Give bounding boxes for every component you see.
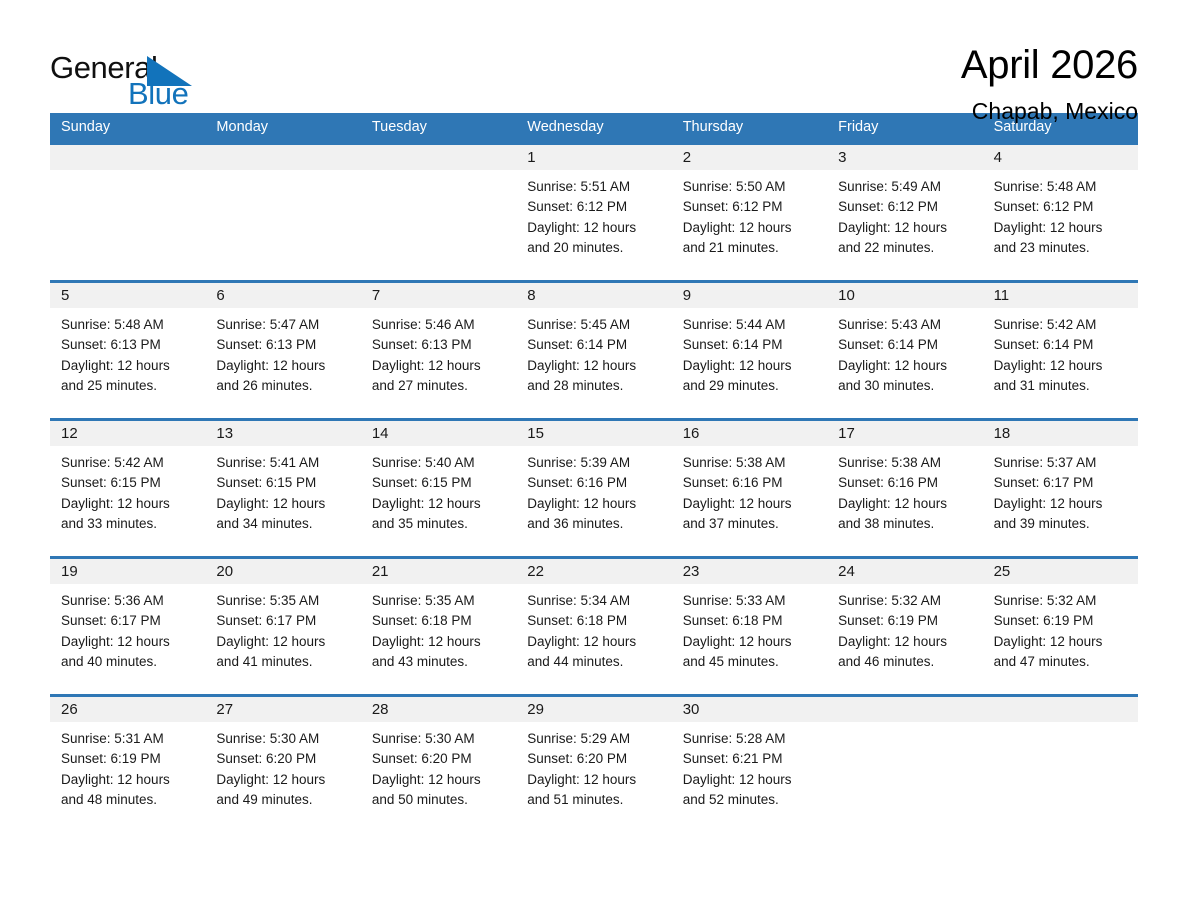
day-detail-line: Sunset: 6:17 PM (216, 611, 349, 631)
day-detail-line: Daylight: 12 hours (216, 632, 349, 652)
day-number[interactable]: 15 (516, 421, 671, 446)
day-detail-line: Daylight: 12 hours (838, 218, 971, 238)
day-number[interactable]: 8 (516, 283, 671, 308)
day-detail-line: and 41 minutes. (216, 652, 349, 672)
day-detail-line: and 22 minutes. (838, 238, 971, 258)
day-detail-line: Sunset: 6:13 PM (61, 335, 194, 355)
day-detail-line: Sunset: 6:21 PM (683, 749, 816, 769)
day-detail-line: Daylight: 12 hours (527, 218, 660, 238)
day-detail-line: Sunrise: 5:33 AM (683, 591, 816, 611)
day-detail-line: Daylight: 12 hours (683, 770, 816, 790)
day-detail-line: and 50 minutes. (372, 790, 505, 810)
day-detail-line: Daylight: 12 hours (994, 218, 1127, 238)
day-number-empty (361, 145, 516, 170)
day-detail-line: Sunset: 6:15 PM (61, 473, 194, 493)
day-cell[interactable]: Sunrise: 5:31 AMSunset: 6:19 PMDaylight:… (50, 722, 205, 830)
day-detail-line: Sunset: 6:18 PM (372, 611, 505, 631)
day-detail-line: Sunrise: 5:32 AM (838, 591, 971, 611)
day-cell[interactable]: Sunrise: 5:45 AMSunset: 6:14 PMDaylight:… (516, 308, 671, 418)
day-detail-line: and 43 minutes. (372, 652, 505, 672)
day-detail-line: Sunset: 6:14 PM (994, 335, 1127, 355)
day-number[interactable]: 25 (983, 559, 1138, 584)
day-detail-line: Sunrise: 5:49 AM (838, 177, 971, 197)
day-detail-line: Daylight: 12 hours (527, 770, 660, 790)
day-detail-line: and 40 minutes. (61, 652, 194, 672)
day-detail-line: Sunset: 6:12 PM (683, 197, 816, 217)
general-blue-logo[interactable]: General Blue (50, 42, 200, 108)
day-number[interactable]: 12 (50, 421, 205, 446)
day-detail-line: Sunset: 6:20 PM (372, 749, 505, 769)
weekday-header-tuesday: Tuesday (361, 113, 516, 142)
day-number-empty (50, 145, 205, 170)
page-header: General Blue April 2026 Chapab, Mexico (50, 0, 1138, 108)
day-detail-line: Daylight: 12 hours (994, 632, 1127, 652)
day-detail-line: Sunrise: 5:38 AM (838, 453, 971, 473)
calendar-page: General Blue April 2026 Chapab, Mexico S… (0, 0, 1188, 918)
day-detail-line: and 29 minutes. (683, 376, 816, 396)
day-number[interactable]: 3 (827, 145, 982, 170)
day-detail-line: Sunset: 6:18 PM (527, 611, 660, 631)
day-cell[interactable]: Sunrise: 5:29 AMSunset: 6:20 PMDaylight:… (516, 722, 671, 830)
day-detail-line: Daylight: 12 hours (527, 356, 660, 376)
day-detail-line: Sunrise: 5:43 AM (838, 315, 971, 335)
day-number[interactable]: 14 (361, 421, 516, 446)
day-detail-line: Sunrise: 5:48 AM (61, 315, 194, 335)
calendar-week-row: 12131415161718Sunrise: 5:42 AMSunset: 6:… (50, 418, 1138, 556)
day-detail-line: and 25 minutes. (61, 376, 194, 396)
day-detail-line: Sunrise: 5:31 AM (61, 729, 194, 749)
day-detail-line: and 26 minutes. (216, 376, 349, 396)
day-detail-line: Sunset: 6:13 PM (372, 335, 505, 355)
day-detail-line: Sunrise: 5:42 AM (61, 453, 194, 473)
day-cell[interactable]: Sunrise: 5:39 AMSunset: 6:16 PMDaylight:… (516, 446, 671, 556)
day-detail-line: Sunset: 6:13 PM (216, 335, 349, 355)
day-detail-line: Daylight: 12 hours (216, 770, 349, 790)
day-detail-line: Daylight: 12 hours (372, 770, 505, 790)
day-number[interactable]: 28 (361, 697, 516, 722)
day-number[interactable]: 17 (827, 421, 982, 446)
day-cell[interactable]: Sunrise: 5:35 AMSunset: 6:18 PMDaylight:… (361, 584, 516, 694)
day-number[interactable]: 26 (50, 697, 205, 722)
day-detail-line: Sunrise: 5:35 AM (216, 591, 349, 611)
day-detail-line: Daylight: 12 hours (838, 632, 971, 652)
day-detail-line: Sunset: 6:17 PM (994, 473, 1127, 493)
day-cell[interactable]: Sunrise: 5:49 AMSunset: 6:12 PMDaylight:… (827, 170, 982, 280)
day-detail-line: and 47 minutes. (994, 652, 1127, 672)
day-detail-line: and 31 minutes. (994, 376, 1127, 396)
day-cell[interactable]: Sunrise: 5:33 AMSunset: 6:18 PMDaylight:… (672, 584, 827, 694)
day-detail-line: Sunrise: 5:32 AM (994, 591, 1127, 611)
day-cell[interactable]: Sunrise: 5:30 AMSunset: 6:20 PMDaylight:… (361, 722, 516, 830)
day-cell[interactable]: Sunrise: 5:38 AMSunset: 6:16 PMDaylight:… (827, 446, 982, 556)
day-cell[interactable]: Sunrise: 5:32 AMSunset: 6:19 PMDaylight:… (983, 584, 1138, 694)
week-detail-band: Sunrise: 5:42 AMSunset: 6:15 PMDaylight:… (50, 446, 1138, 556)
day-detail-line: Sunset: 6:19 PM (994, 611, 1127, 631)
day-detail-line: Sunrise: 5:41 AM (216, 453, 349, 473)
day-cell-empty (205, 170, 360, 280)
day-number[interactable]: 19 (50, 559, 205, 584)
day-detail-line: Sunrise: 5:46 AM (372, 315, 505, 335)
day-cell[interactable]: Sunrise: 5:32 AMSunset: 6:19 PMDaylight:… (827, 584, 982, 694)
day-detail-line: Sunset: 6:12 PM (994, 197, 1127, 217)
week-date-band: 567891011 (50, 283, 1138, 308)
weekday-header-saturday: Saturday (983, 113, 1138, 142)
day-detail-line: Daylight: 12 hours (683, 494, 816, 514)
day-detail-line: Daylight: 12 hours (61, 632, 194, 652)
day-number[interactable]: 5 (50, 283, 205, 308)
day-detail-line: Sunrise: 5:38 AM (683, 453, 816, 473)
day-cell[interactable]: Sunrise: 5:42 AMSunset: 6:15 PMDaylight:… (50, 446, 205, 556)
day-detail-line: and 28 minutes. (527, 376, 660, 396)
week-date-band: 2627282930 (50, 697, 1138, 722)
day-number[interactable]: 27 (205, 697, 360, 722)
day-detail-line: Sunset: 6:20 PM (216, 749, 349, 769)
day-detail-line: and 45 minutes. (683, 652, 816, 672)
day-number[interactable]: 22 (516, 559, 671, 584)
day-detail-line: Sunset: 6:15 PM (216, 473, 349, 493)
day-detail-line: Daylight: 12 hours (838, 356, 971, 376)
day-detail-line: Sunset: 6:17 PM (61, 611, 194, 631)
day-cell[interactable]: Sunrise: 5:36 AMSunset: 6:17 PMDaylight:… (50, 584, 205, 694)
day-number[interactable]: 29 (516, 697, 671, 722)
day-detail-line: Daylight: 12 hours (61, 494, 194, 514)
day-detail-line: Sunset: 6:14 PM (527, 335, 660, 355)
day-cell[interactable]: Sunrise: 5:35 AMSunset: 6:17 PMDaylight:… (205, 584, 360, 694)
day-number[interactable]: 4 (983, 145, 1138, 170)
day-detail-line: Daylight: 12 hours (372, 356, 505, 376)
day-cell[interactable]: Sunrise: 5:37 AMSunset: 6:17 PMDaylight:… (983, 446, 1138, 556)
day-detail-line: Daylight: 12 hours (683, 356, 816, 376)
weekday-header-wednesday: Wednesday (516, 113, 671, 142)
day-detail-line: and 44 minutes. (527, 652, 660, 672)
weekday-header-row: SundayMondayTuesdayWednesdayThursdayFrid… (50, 113, 1138, 142)
day-detail-line: Sunset: 6:20 PM (527, 749, 660, 769)
day-detail-line: Sunset: 6:19 PM (838, 611, 971, 631)
week-date-band: 12131415161718 (50, 421, 1138, 446)
day-cell-empty (983, 722, 1138, 830)
day-number[interactable]: 21 (361, 559, 516, 584)
day-cell[interactable]: Sunrise: 5:46 AMSunset: 6:13 PMDaylight:… (361, 308, 516, 418)
day-number[interactable]: 20 (205, 559, 360, 584)
day-detail-line: Daylight: 12 hours (527, 632, 660, 652)
day-detail-line: and 52 minutes. (683, 790, 816, 810)
day-number-empty (983, 697, 1138, 722)
day-detail-line: Daylight: 12 hours (838, 494, 971, 514)
day-detail-line: and 21 minutes. (683, 238, 816, 258)
day-detail-line: and 49 minutes. (216, 790, 349, 810)
day-detail-line: Sunrise: 5:42 AM (994, 315, 1127, 335)
calendar-week-row: 2627282930Sunrise: 5:31 AMSunset: 6:19 P… (50, 694, 1138, 830)
logo-text-blue: Blue (128, 78, 188, 109)
day-detail-line: and 46 minutes. (838, 652, 971, 672)
day-detail-line: and 51 minutes. (527, 790, 660, 810)
week-date-band: 19202122232425 (50, 559, 1138, 584)
day-detail-line: and 35 minutes. (372, 514, 505, 534)
weekday-header-friday: Friday (827, 113, 982, 142)
day-detail-line: Sunrise: 5:36 AM (61, 591, 194, 611)
day-detail-line: Sunrise: 5:34 AM (527, 591, 660, 611)
day-detail-line: and 38 minutes. (838, 514, 971, 534)
day-number-empty (205, 145, 360, 170)
day-cell[interactable]: Sunrise: 5:48 AMSunset: 6:13 PMDaylight:… (50, 308, 205, 418)
day-detail-line: Sunset: 6:18 PM (683, 611, 816, 631)
weekday-header-monday: Monday (205, 113, 360, 142)
day-detail-line: Sunrise: 5:39 AM (527, 453, 660, 473)
day-detail-line: and 34 minutes. (216, 514, 349, 534)
day-detail-line: Daylight: 12 hours (216, 494, 349, 514)
day-number[interactable]: 18 (983, 421, 1138, 446)
day-cell[interactable]: Sunrise: 5:28 AMSunset: 6:21 PMDaylight:… (672, 722, 827, 830)
day-cell[interactable]: Sunrise: 5:34 AMSunset: 6:18 PMDaylight:… (516, 584, 671, 694)
day-detail-line: and 27 minutes. (372, 376, 505, 396)
day-number[interactable]: 23 (672, 559, 827, 584)
calendar-week-row: 567891011Sunrise: 5:48 AMSunset: 6:13 PM… (50, 280, 1138, 418)
day-detail-line: and 20 minutes. (527, 238, 660, 258)
day-number[interactable]: 2 (672, 145, 827, 170)
day-cell[interactable]: Sunrise: 5:50 AMSunset: 6:12 PMDaylight:… (672, 170, 827, 280)
weekday-header-thursday: Thursday (672, 113, 827, 142)
day-number[interactable]: 13 (205, 421, 360, 446)
day-detail-line: Sunrise: 5:44 AM (683, 315, 816, 335)
day-number-empty (827, 697, 982, 722)
day-detail-line: Sunset: 6:12 PM (527, 197, 660, 217)
week-detail-band: Sunrise: 5:51 AMSunset: 6:12 PMDaylight:… (50, 170, 1138, 280)
day-detail-line: Sunrise: 5:48 AM (994, 177, 1127, 197)
day-detail-line: Sunrise: 5:28 AM (683, 729, 816, 749)
day-detail-line: Daylight: 12 hours (994, 356, 1127, 376)
day-detail-line: Sunrise: 5:51 AM (527, 177, 660, 197)
day-cell[interactable]: Sunrise: 5:51 AMSunset: 6:12 PMDaylight:… (516, 170, 671, 280)
day-cell[interactable]: Sunrise: 5:44 AMSunset: 6:14 PMDaylight:… (672, 308, 827, 418)
day-number[interactable]: 9 (672, 283, 827, 308)
day-detail-line: and 36 minutes. (527, 514, 660, 534)
day-cell[interactable]: Sunrise: 5:30 AMSunset: 6:20 PMDaylight:… (205, 722, 360, 830)
day-detail-line: and 48 minutes. (61, 790, 194, 810)
day-detail-line: Sunrise: 5:35 AM (372, 591, 505, 611)
calendar-week-row: 1234Sunrise: 5:51 AMSunset: 6:12 PMDayli… (50, 142, 1138, 280)
day-cell[interactable]: Sunrise: 5:42 AMSunset: 6:14 PMDaylight:… (983, 308, 1138, 418)
day-cell[interactable]: Sunrise: 5:43 AMSunset: 6:14 PMDaylight:… (827, 308, 982, 418)
day-number[interactable]: 1 (516, 145, 671, 170)
day-detail-line: Sunset: 6:14 PM (683, 335, 816, 355)
day-detail-line: and 30 minutes. (838, 376, 971, 396)
day-detail-line: Sunset: 6:12 PM (838, 197, 971, 217)
day-number[interactable]: 16 (672, 421, 827, 446)
day-cell[interactable]: Sunrise: 5:48 AMSunset: 6:12 PMDaylight:… (983, 170, 1138, 280)
day-detail-line: Sunrise: 5:30 AM (216, 729, 349, 749)
day-detail-line: and 23 minutes. (994, 238, 1127, 258)
day-detail-line: Daylight: 12 hours (61, 770, 194, 790)
day-detail-line: Daylight: 12 hours (683, 632, 816, 652)
day-detail-line: Daylight: 12 hours (216, 356, 349, 376)
day-detail-line: Daylight: 12 hours (994, 494, 1127, 514)
day-detail-line: Sunrise: 5:45 AM (527, 315, 660, 335)
day-detail-line: Sunset: 6:15 PM (372, 473, 505, 493)
week-detail-band: Sunrise: 5:31 AMSunset: 6:19 PMDaylight:… (50, 722, 1138, 830)
day-cell[interactable]: Sunrise: 5:38 AMSunset: 6:16 PMDaylight:… (672, 446, 827, 556)
day-detail-line: Sunset: 6:19 PM (61, 749, 194, 769)
day-detail-line: Daylight: 12 hours (61, 356, 194, 376)
day-detail-line: Sunset: 6:14 PM (838, 335, 971, 355)
day-cell[interactable]: Sunrise: 5:47 AMSunset: 6:13 PMDaylight:… (205, 308, 360, 418)
calendar-grid: SundayMondayTuesdayWednesdayThursdayFrid… (50, 113, 1138, 830)
week-date-band: 1234 (50, 145, 1138, 170)
calendar-weeks: 1234Sunrise: 5:51 AMSunset: 6:12 PMDayli… (50, 142, 1138, 830)
day-detail-line: Daylight: 12 hours (372, 494, 505, 514)
day-detail-line: and 39 minutes. (994, 514, 1127, 534)
day-detail-line: Sunrise: 5:47 AM (216, 315, 349, 335)
day-detail-line: Sunrise: 5:30 AM (372, 729, 505, 749)
day-number[interactable]: 30 (672, 697, 827, 722)
week-detail-band: Sunrise: 5:36 AMSunset: 6:17 PMDaylight:… (50, 584, 1138, 694)
day-cell-empty (827, 722, 982, 830)
day-cell[interactable]: Sunrise: 5:41 AMSunset: 6:15 PMDaylight:… (205, 446, 360, 556)
day-detail-line: and 33 minutes. (61, 514, 194, 534)
day-number[interactable]: 7 (361, 283, 516, 308)
day-detail-line: Sunrise: 5:40 AM (372, 453, 505, 473)
day-detail-line: Sunrise: 5:37 AM (994, 453, 1127, 473)
day-detail-line: and 37 minutes. (683, 514, 816, 534)
day-detail-line: Daylight: 12 hours (527, 494, 660, 514)
day-detail-line: Daylight: 12 hours (683, 218, 816, 238)
day-detail-line: Sunrise: 5:29 AM (527, 729, 660, 749)
week-detail-band: Sunrise: 5:48 AMSunset: 6:13 PMDaylight:… (50, 308, 1138, 418)
day-cell-empty (361, 170, 516, 280)
day-cell-empty (50, 170, 205, 280)
day-cell[interactable]: Sunrise: 5:40 AMSunset: 6:15 PMDaylight:… (361, 446, 516, 556)
weekday-header-sunday: Sunday (50, 113, 205, 142)
day-detail-line: Sunset: 6:16 PM (838, 473, 971, 493)
page-title: April 2026 (961, 44, 1138, 86)
day-number[interactable]: 24 (827, 559, 982, 584)
day-number[interactable]: 10 (827, 283, 982, 308)
day-number[interactable]: 11 (983, 283, 1138, 308)
day-detail-line: Sunset: 6:16 PM (683, 473, 816, 493)
day-detail-line: Sunrise: 5:50 AM (683, 177, 816, 197)
calendar-week-row: 19202122232425Sunrise: 5:36 AMSunset: 6:… (50, 556, 1138, 694)
day-detail-line: Daylight: 12 hours (372, 632, 505, 652)
day-number[interactable]: 6 (205, 283, 360, 308)
day-detail-line: Sunset: 6:16 PM (527, 473, 660, 493)
